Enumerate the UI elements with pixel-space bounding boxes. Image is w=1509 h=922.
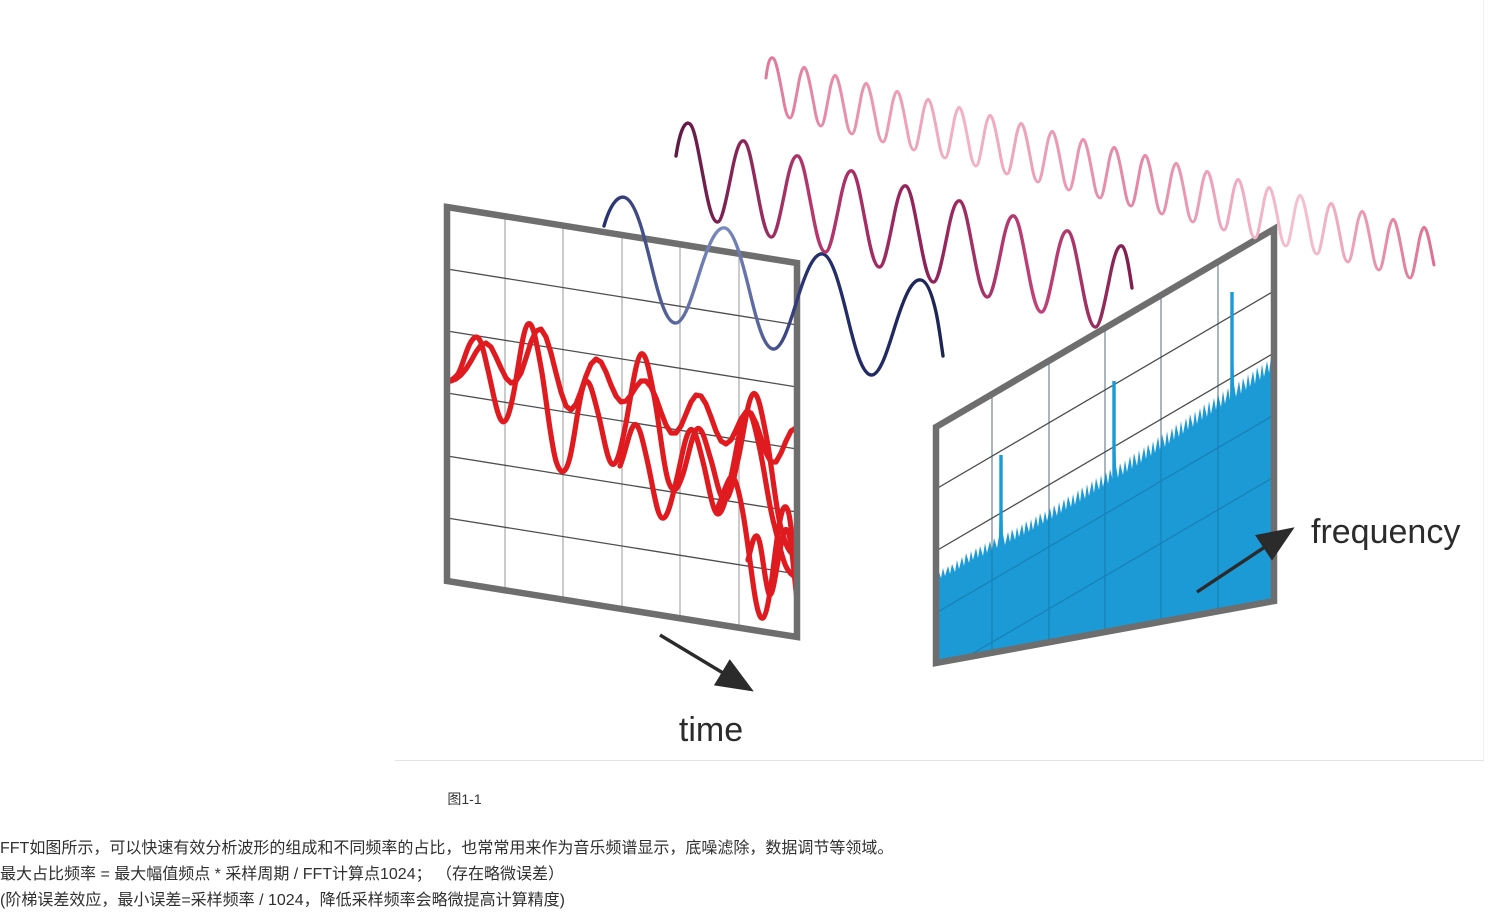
time-axis-label: time [679,711,743,749]
time-axis-indicator: time [660,635,748,749]
section-divider [395,760,1483,761]
body-line-2: 最大占比频率 = 最大幅值频点 * 采样周期 / FFT计算点1024； （存在… [0,862,1509,888]
fft-figure: time frequency [0,0,1509,760]
page-vertical-rule [1483,0,1484,762]
figure-caption-row: 图1-1 [0,789,1509,809]
time-domain-panel [441,207,802,637]
figure-caption: 图1-1 [447,789,481,809]
sine-high-frequency-wave [766,58,1434,278]
body-text-block: FFT如图所示，可以快速有效分析波形的组成和不同频率的占比，也常常用来作为音乐频… [0,836,1509,914]
frequency-axis-label: frequency [1311,513,1460,551]
body-line-3: (阶梯误差效应，最小误差=采样频率 / 1024，降低采样频率会略微提高计算精度… [0,888,1509,914]
fft-diagram-svg: time frequency [0,0,1509,760]
body-line-1: FFT如图所示，可以快速有效分析波形的组成和不同频率的占比，也常常用来作为音乐频… [0,836,1509,862]
time-arrow-icon [660,635,748,688]
